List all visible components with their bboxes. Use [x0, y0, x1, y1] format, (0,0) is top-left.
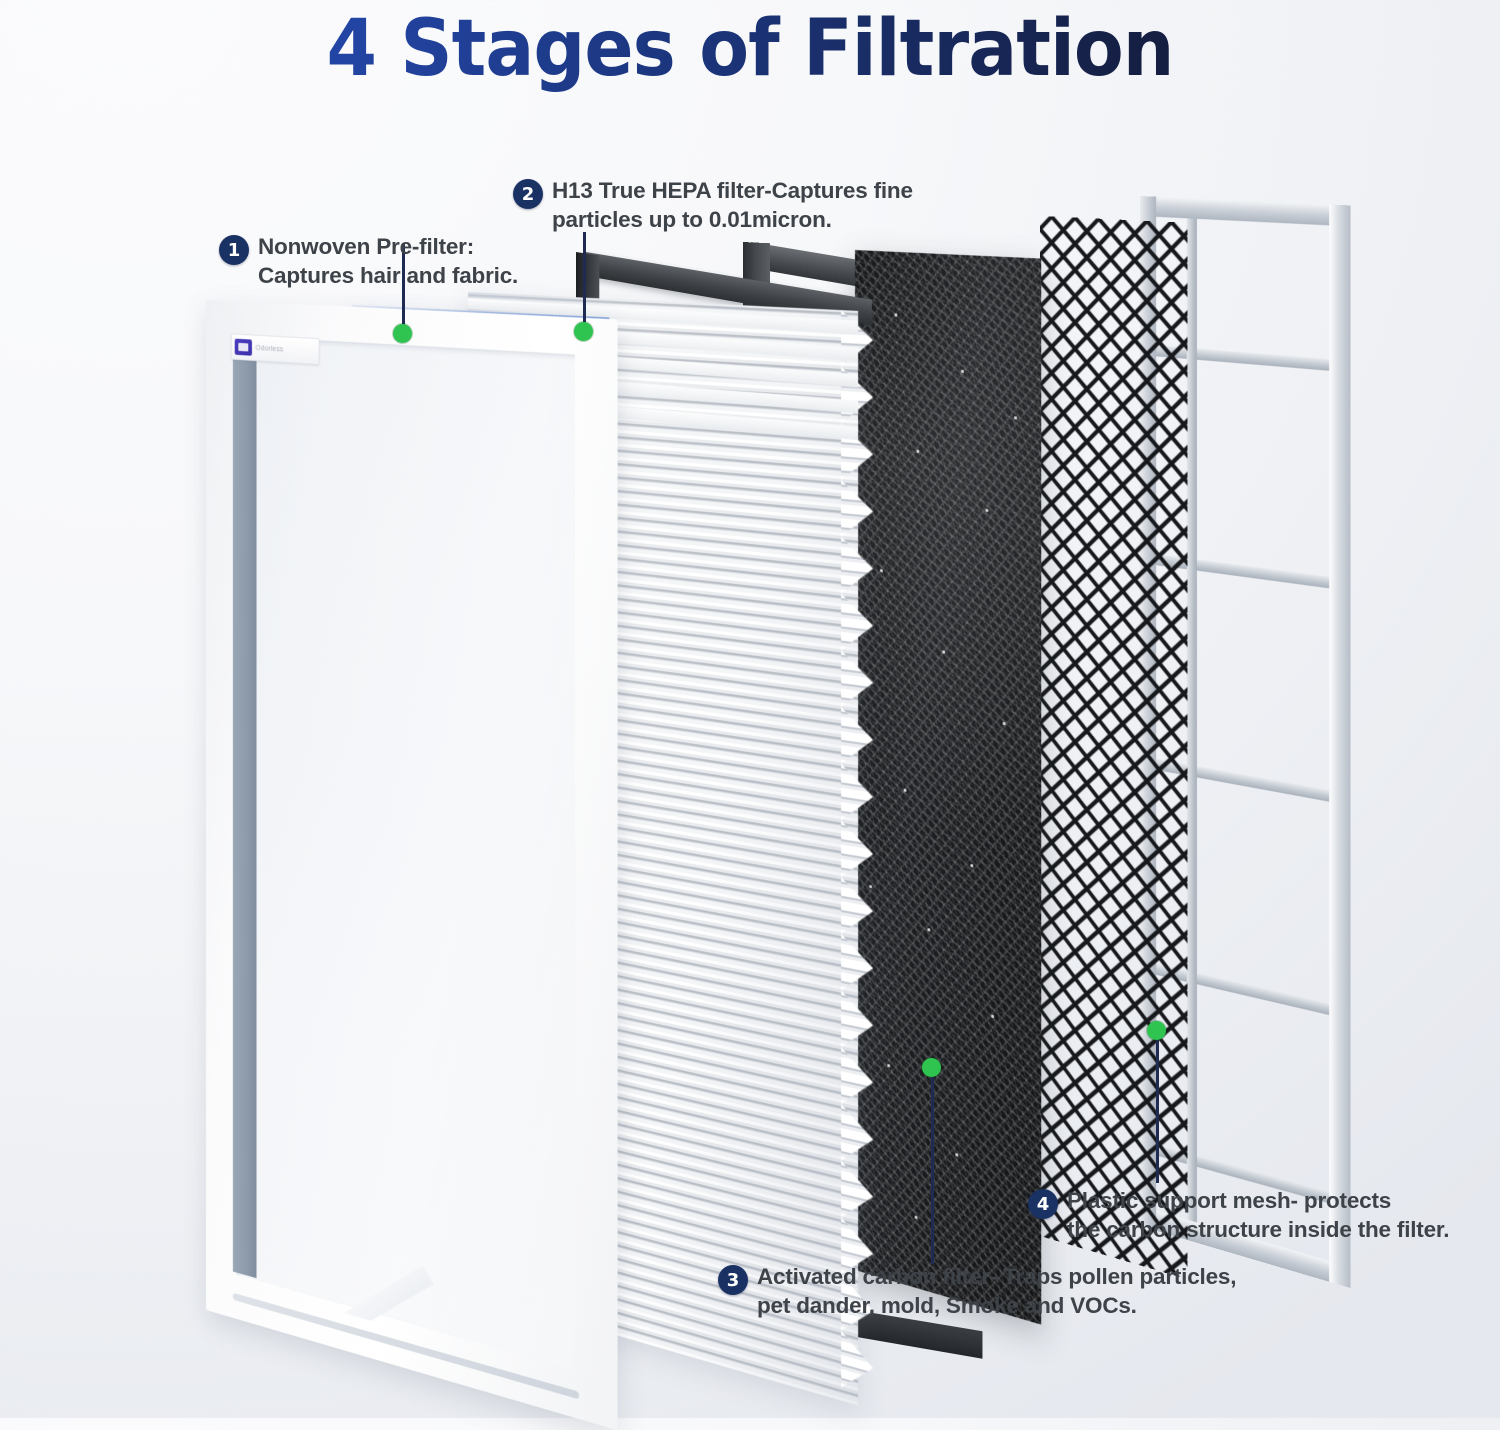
- callout-2: 2 H13 True HEPA filter-Captures fine par…: [513, 176, 913, 235]
- prefilter-brand-sticker: Odorless: [231, 333, 319, 365]
- marker-dot-carbon: [922, 1058, 941, 1077]
- mesh-lattice-icon: [1040, 216, 1188, 1279]
- prefilter-left-bar: [233, 338, 257, 1279]
- callout-4: 4 Plastic support mesh- protects the car…: [1028, 1186, 1449, 1245]
- callout-4-badge: 4: [1028, 1189, 1058, 1219]
- marker-dot-prefilter: [393, 324, 412, 343]
- callout-2-text: H13 True HEPA filter-Captures fine parti…: [552, 176, 913, 235]
- prefilter-sticker-label: Odorless: [256, 344, 284, 353]
- layer-nonwoven-pre-filter-frame: Odorless: [206, 300, 626, 1310]
- leader-line-4: [1156, 1031, 1159, 1183]
- callout-3: 3 Activated carbon filter- Traps pollen …: [718, 1262, 1236, 1321]
- illustration-stage: 4 Stages of Filtration: [0, 0, 1500, 1418]
- callout-1-text: Nonwoven Pre-filter: Captures hair and f…: [258, 232, 518, 291]
- callout-1: 1 Nonwoven Pre-filter: Captures hair and…: [219, 232, 518, 291]
- page-title: 4 Stages of Filtration: [53, 4, 1448, 94]
- leader-line-2: [583, 232, 586, 330]
- callout-1-badge: 1: [219, 235, 249, 265]
- callout-4-text: Plastic support mesh- protects the carbo…: [1067, 1186, 1449, 1245]
- prefilter-inner-panel: [237, 336, 575, 1370]
- layer-activated-carbon-panel: [855, 250, 1055, 1270]
- leader-line-3: [931, 1068, 934, 1264]
- callout-2-badge: 2: [513, 179, 543, 209]
- frame-right-rail: [1329, 204, 1351, 1288]
- callout-3-text: Activated carbon filter- Traps pollen pa…: [757, 1262, 1236, 1321]
- layer-plastic-support-mesh: [1040, 216, 1200, 1236]
- marker-dot-plastic-mesh: [1147, 1021, 1166, 1040]
- callout-3-badge: 3: [718, 1265, 748, 1295]
- carbon-granule-surface: [855, 250, 1041, 1325]
- brand-logo-icon: [235, 339, 252, 356]
- marker-dot-hepa: [574, 322, 593, 341]
